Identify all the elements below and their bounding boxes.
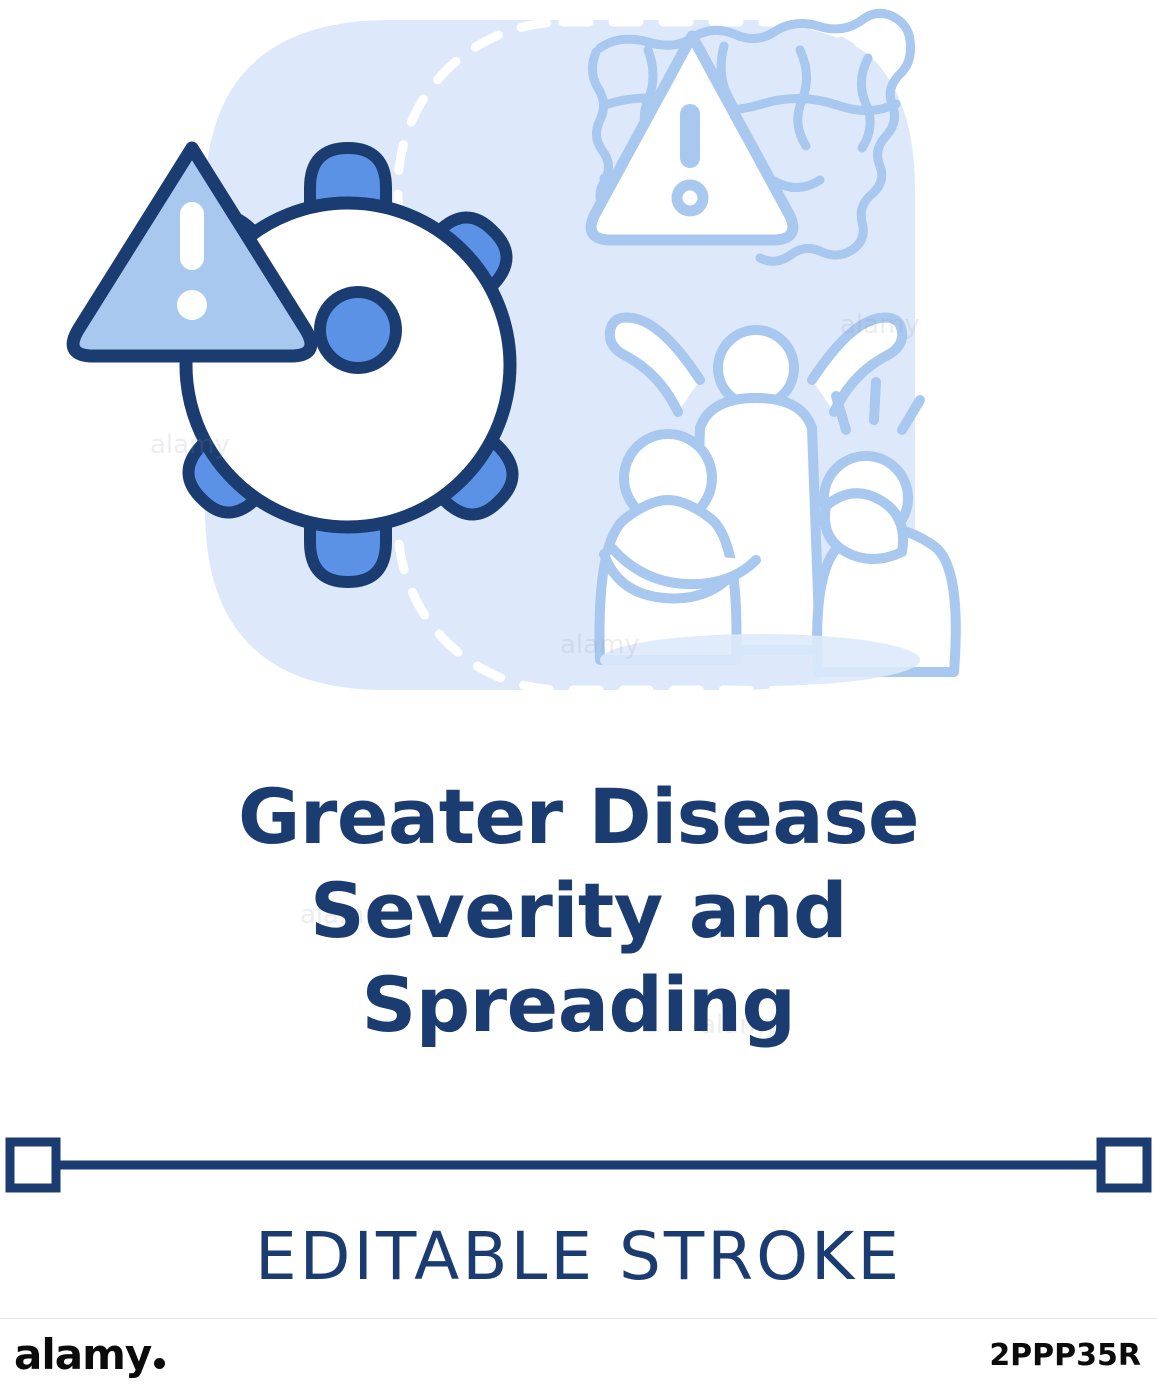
title-line-2: Severity and [0, 864, 1157, 958]
alamy-logo: alamy [14, 1330, 165, 1379]
editable-stroke-label: EDITABLE STROKE [0, 1218, 1157, 1295]
stock-photo-card: alamy alamy alamy alamy alamy Greater Di… [0, 0, 1157, 1390]
alamy-logo-text: alamy [14, 1330, 151, 1379]
alamy-logo-dot [154, 1358, 165, 1369]
title-line-1: Greater Disease [0, 770, 1157, 864]
stroke-width-slider [0, 1120, 1157, 1210]
image-id: 2PPP35R [989, 1338, 1141, 1373]
alamy-footer-bar [0, 1318, 1157, 1391]
slider-handle-left [10, 1142, 56, 1188]
concept-illustration [0, 0, 1157, 730]
slider-handle-right [1101, 1142, 1147, 1188]
page-title: Greater Disease Severity and Spreading [0, 770, 1157, 1052]
title-line-3: Spreading [0, 958, 1157, 1052]
